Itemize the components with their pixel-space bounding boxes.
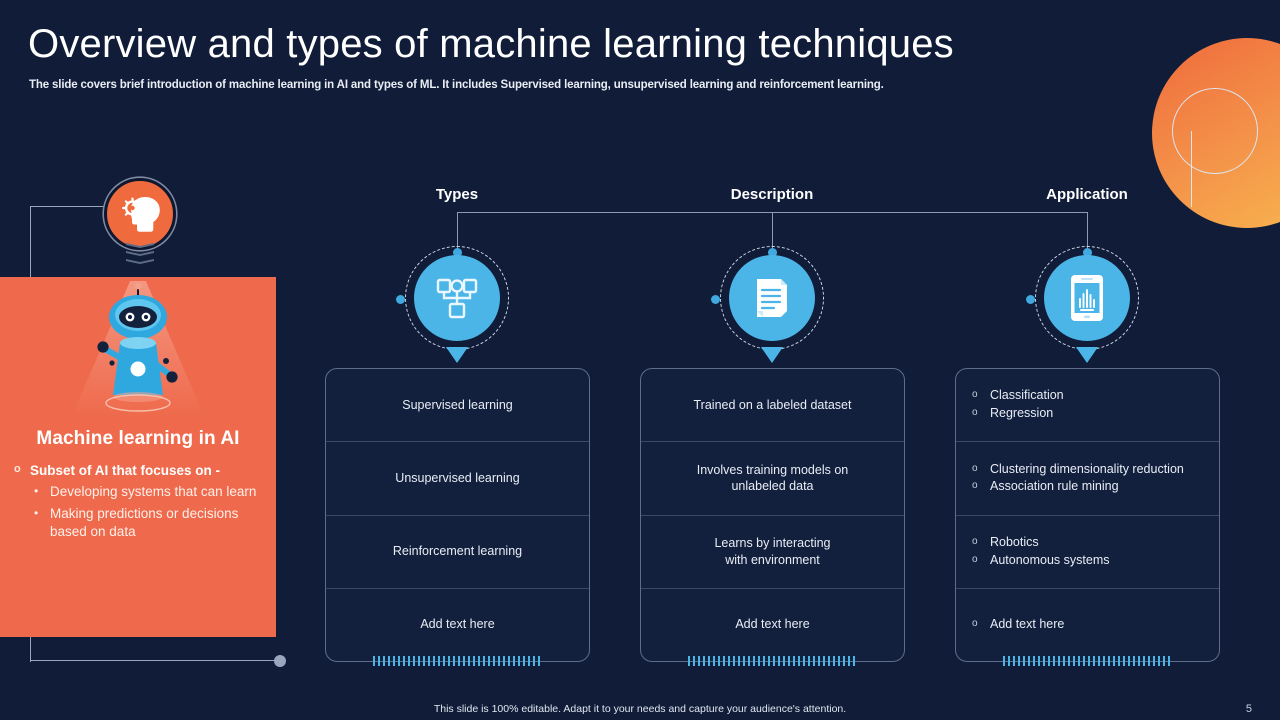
- decorative-ring-connector: [1191, 131, 1192, 207]
- document-scroll-icon: [729, 255, 815, 341]
- list-item-label: Regression: [990, 405, 1053, 423]
- bullet-marker: o: [972, 387, 990, 402]
- card-bottom-stripe: [688, 656, 858, 666]
- footer-note: This slide is 100% editable. Adapt it to…: [0, 703, 1280, 715]
- card-types: Supervised learning Unsupervised learnin…: [325, 368, 590, 662]
- panel-bullet-sub-text: Making predictions or decisions based on…: [50, 505, 276, 542]
- panel-bullet-sub: • Making predictions or decisions based …: [34, 505, 276, 542]
- left-connector-top: [30, 206, 110, 207]
- page-subtitle: The slide covers brief introduction of m…: [29, 79, 884, 91]
- list-item: o Association rule mining: [972, 478, 1119, 496]
- card-row: Add text here: [641, 588, 904, 661]
- panel-bullet-list: o Subset of AI that focuses on - • Devel…: [14, 462, 276, 542]
- satellite-dot: [1026, 295, 1035, 304]
- list-item-label: Autonomous systems: [990, 552, 1110, 570]
- card-row-line: Reinforcement learning: [393, 543, 522, 560]
- brain-gear-head-icon: [104, 178, 176, 250]
- bullet-marker: o: [972, 405, 990, 420]
- mobile-analytics-icon: [1044, 255, 1130, 341]
- list-item-label: Classification: [990, 387, 1064, 405]
- down-arrow-icon: [761, 347, 783, 363]
- list-item-label: Clustering dimensionality reduction: [990, 461, 1184, 479]
- card-row: Reinforcement learning: [326, 515, 589, 588]
- card-row: o Robotics o Autonomous systems: [956, 515, 1219, 588]
- list-item: o Classification: [972, 387, 1064, 405]
- icon-node-description[interactable]: [729, 255, 815, 341]
- satellite-dot: [396, 295, 405, 304]
- card-bottom-stripe: [373, 656, 543, 666]
- panel-heading: Machine learning in AI: [0, 428, 276, 450]
- column-header-description: Description: [697, 186, 847, 203]
- bullet-marker: o: [972, 552, 990, 567]
- card-row-line: Unsupervised learning: [395, 470, 519, 487]
- card-row-line: Involves training models on: [697, 462, 848, 479]
- list-item-label: Association rule mining: [990, 478, 1119, 496]
- left-connector-bottom: [30, 660, 280, 661]
- panel-bullet-primary-text: Subset of AI that focuses on -: [30, 462, 220, 480]
- column-header-types: Types: [382, 186, 532, 203]
- card-bottom-stripe: [1003, 656, 1173, 666]
- robot-illustration: [0, 277, 276, 422]
- decorative-ring-circle: [1172, 88, 1258, 174]
- bullet-marker: o: [972, 478, 990, 493]
- icon-node-types[interactable]: [414, 255, 500, 341]
- card-row: o Classification o Regression: [956, 369, 1219, 441]
- card-row-line: Add text here: [420, 616, 494, 633]
- bullet-marker: o: [972, 461, 990, 476]
- page-title: Overview and types of machine learning t…: [28, 22, 954, 66]
- panel-bullet-sub: • Developing systems that can learn: [34, 483, 276, 502]
- list-item-label: Robotics: [990, 534, 1039, 552]
- satellite-dot: [711, 295, 720, 304]
- card-row-line: Learns by interacting: [714, 535, 830, 552]
- page-number: 5: [1246, 703, 1252, 715]
- card-row-line: with environment: [725, 552, 820, 569]
- chevron-down-stack-icon: [126, 243, 154, 267]
- card-description: Trained on a labeled dataset Involves tr…: [640, 368, 905, 662]
- panel-bullet-sub-text: Developing systems that can learn: [50, 483, 256, 502]
- card-row: Involves training models on unlabeled da…: [641, 441, 904, 514]
- card-row-line: Trained on a labeled dataset: [694, 397, 852, 414]
- down-arrow-icon: [446, 347, 468, 363]
- left-connector-end-dot: [274, 655, 286, 667]
- card-row: Unsupervised learning: [326, 441, 589, 514]
- card-row: Trained on a labeled dataset: [641, 369, 904, 441]
- bullet-marker: •: [34, 483, 50, 502]
- list-item-label: Add text here: [990, 616, 1064, 634]
- card-row-line: unlabeled data: [731, 478, 813, 495]
- bullet-marker: o: [972, 616, 990, 631]
- card-row: o Add text here: [956, 588, 1219, 661]
- list-item: o Clustering dimensionality reduction: [972, 461, 1184, 479]
- bullet-marker: o: [14, 462, 30, 480]
- list-item: o Regression: [972, 405, 1053, 423]
- list-item: o Autonomous systems: [972, 552, 1110, 570]
- list-item: o Add text here: [972, 616, 1064, 634]
- card-row: Add text here: [326, 588, 589, 661]
- card-row-line: Supervised learning: [402, 397, 513, 414]
- down-arrow-icon: [1076, 347, 1098, 363]
- column-header-application: Application: [1012, 186, 1162, 203]
- card-row: Supervised learning: [326, 369, 589, 441]
- icon-node-application[interactable]: [1044, 255, 1130, 341]
- list-item: o Robotics: [972, 534, 1039, 552]
- panel-bullet-primary: o Subset of AI that focuses on -: [14, 462, 276, 480]
- card-row: Learns by interacting with environment: [641, 515, 904, 588]
- hierarchy-network-icon: [414, 255, 500, 341]
- card-row-line: Add text here: [735, 616, 809, 633]
- machine-learning-panel: Machine learning in AI o Subset of AI th…: [0, 277, 276, 637]
- bullet-marker: •: [34, 505, 50, 542]
- bullet-marker: o: [972, 534, 990, 549]
- card-row: o Clustering dimensionality reduction o …: [956, 441, 1219, 514]
- card-application: o Classification o Regression o Clusteri…: [955, 368, 1220, 662]
